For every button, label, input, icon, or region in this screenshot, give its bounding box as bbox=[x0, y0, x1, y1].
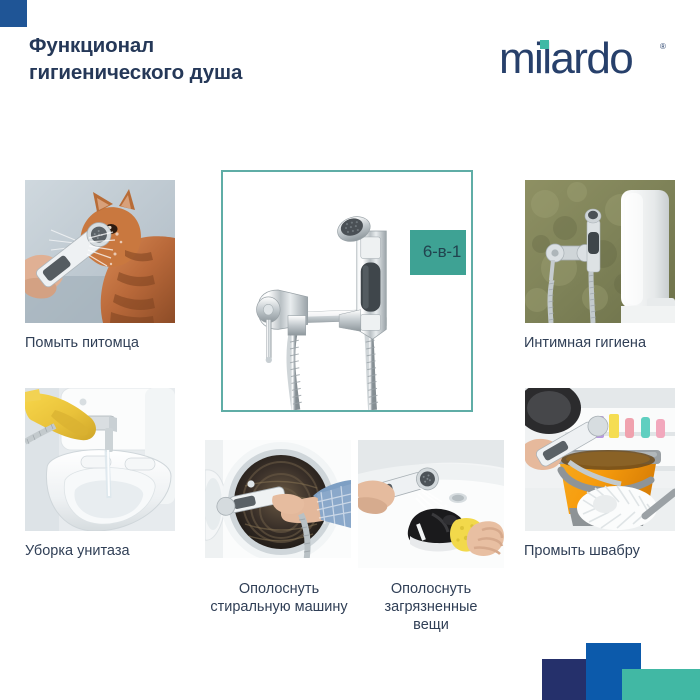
brand-logo-dot-icon bbox=[540, 40, 549, 49]
feature-card-caption: Помыть питомца bbox=[25, 334, 185, 352]
corner-accent-teal bbox=[622, 669, 700, 700]
feature-card-intimate-hygiene[interactable]: Интимная гигиена bbox=[524, 180, 686, 370]
feature-card-caption: Ополоснуть стиральную машину bbox=[199, 580, 359, 616]
photo-rinse-washing-machine bbox=[205, 440, 351, 568]
caption-line-3: вещи bbox=[413, 617, 449, 633]
page-title: Функционал гигиенического душа bbox=[29, 32, 449, 86]
photo-toilet-cleaning bbox=[25, 388, 175, 531]
photo-rinse-mop bbox=[525, 388, 675, 531]
feature-card-toilet-cleaning[interactable]: Уборка унитаза bbox=[25, 388, 185, 578]
feature-card-caption: Ополоснуть загрязненные вещи bbox=[348, 580, 514, 634]
feature-card-rinse-washing-machine[interactable]: Ополоснуть стиральную машину bbox=[205, 440, 351, 640]
corner-accent-top-left bbox=[0, 0, 27, 27]
brand-logo: milardo ® bbox=[499, 36, 674, 82]
feature-card-caption: Уборка унитаза bbox=[25, 542, 185, 560]
photo-wash-pet bbox=[25, 180, 175, 323]
product-image-hygienic-shower bbox=[223, 172, 471, 410]
caption-line-2: стиральную машину bbox=[210, 599, 347, 615]
caption-line-2: загрязненные bbox=[385, 599, 478, 615]
photo-rinse-dirty-items bbox=[358, 440, 504, 568]
page-title-line2: гигиенического душа bbox=[29, 59, 449, 86]
caption-line-1: Ополоснуть bbox=[391, 581, 471, 597]
feature-card-wash-pet[interactable]: Помыть питомца bbox=[25, 180, 185, 370]
feature-card-rinse-mop[interactable]: Промыть швабру bbox=[524, 388, 686, 578]
product-showcase-frame: 6-в-1 bbox=[221, 170, 473, 412]
feature-card-caption: Промыть швабру bbox=[524, 542, 694, 560]
page-title-line1: Функционал bbox=[29, 34, 154, 57]
feature-count-badge-label: 6-в-1 bbox=[399, 242, 485, 262]
feature-card-rinse-dirty-items[interactable]: Ополоснуть загрязненные вещи bbox=[358, 440, 504, 650]
feature-card-caption: Интимная гигиена bbox=[524, 334, 694, 352]
caption-line-1: Ополоснуть bbox=[239, 581, 319, 597]
brand-logo-text: milardo bbox=[499, 36, 632, 82]
photo-intimate-hygiene bbox=[525, 180, 675, 323]
registered-trademark-icon: ® bbox=[660, 42, 666, 51]
